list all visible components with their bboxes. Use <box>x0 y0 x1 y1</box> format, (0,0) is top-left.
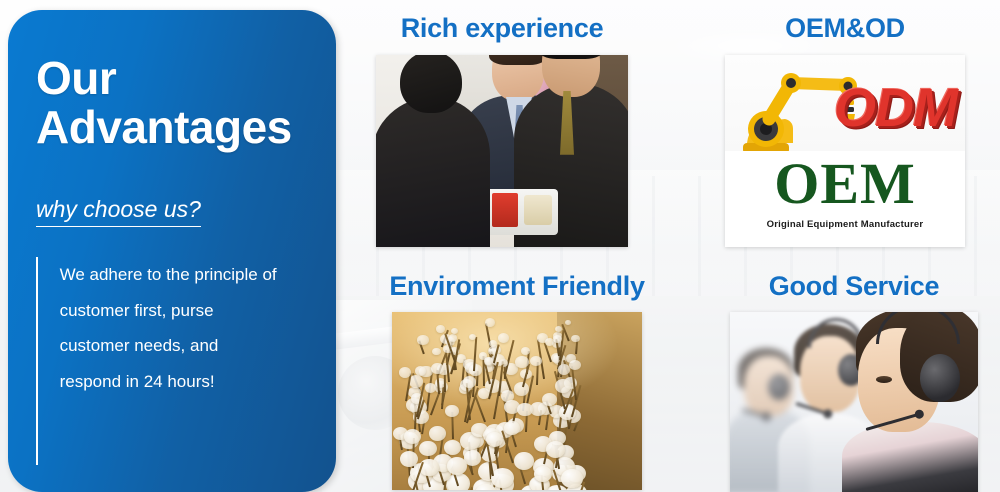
cotton-boll <box>485 318 495 327</box>
oem-section: OEM Original Equipment Manufacturer <box>725 151 965 247</box>
person-right-head <box>542 55 600 97</box>
cotton-boll <box>491 468 514 488</box>
cotton-boll <box>504 421 520 435</box>
cotton-boll <box>558 364 570 375</box>
cotton-boll <box>436 325 445 332</box>
cotton-boll <box>429 426 446 441</box>
cotton-boll <box>514 452 534 470</box>
cotton-boll <box>469 364 483 376</box>
panel-title-line2: Advantages <box>36 103 318 152</box>
cotton-boll <box>444 440 461 455</box>
person-right-tie <box>560 91 574 155</box>
heading-oem-odm: OEM&OD <box>700 14 990 44</box>
agent-front-headset-cup <box>920 354 960 402</box>
cotton-boll <box>400 451 418 467</box>
vertical-divider <box>36 257 38 465</box>
person-center-hair <box>489 55 547 65</box>
person-left-head <box>400 55 462 113</box>
cotton-boll <box>399 367 411 378</box>
meeting-person-left <box>376 97 490 247</box>
odm-logo-text: ODM <box>834 81 957 135</box>
heading-good-service: Good Service <box>718 272 990 302</box>
cotton-boll <box>534 466 553 482</box>
cotton-boll <box>484 357 493 365</box>
cotton-boll <box>445 405 458 417</box>
cotton-boll <box>517 403 532 416</box>
feature-environment-friendly: Enviroment Friendly <box>352 272 682 490</box>
photo-meeting <box>376 55 628 247</box>
call-agent-front <box>842 312 978 492</box>
oem-logo-text: OEM <box>725 155 965 213</box>
page-title: Our Advantages <box>36 54 318 152</box>
cotton-boll <box>419 441 437 457</box>
oem-caption: Original Equipment Manufacturer <box>725 219 965 230</box>
panel-body-group: We adhere to the principle of customer f… <box>36 257 318 465</box>
panel-body-text: We adhere to the principle of customer f… <box>60 257 278 465</box>
cotton-boll <box>463 376 476 388</box>
cotton-boll <box>542 393 557 406</box>
cotton-boll <box>515 356 529 368</box>
cotton-boll <box>417 335 428 345</box>
agent-front-eye <box>876 376 892 383</box>
cotton-boll <box>561 469 582 488</box>
heading-environment-friendly: Enviroment Friendly <box>352 272 682 302</box>
cotton-boll <box>555 379 571 393</box>
photo-oem-odm-logo: ODM OEM Original Equipment Manufacturer <box>725 55 965 247</box>
odm-section: ODM <box>725 55 965 155</box>
meeting-food-tray <box>486 189 558 235</box>
cotton-boll <box>546 441 565 458</box>
agent-front-headset-band <box>876 312 960 344</box>
panel-subtitle: why choose us? <box>36 196 201 227</box>
cotton-boll <box>521 347 530 355</box>
advantages-panel: Our Advantages why choose us? We adhere … <box>8 10 336 492</box>
feature-rich-experience: Rich experience <box>352 14 652 247</box>
panel-title-line1: Our <box>36 52 116 104</box>
photo-call-center <box>730 312 978 492</box>
cotton-boll <box>447 457 467 475</box>
agent-front-body <box>842 422 978 492</box>
photo-cotton-field <box>392 312 642 490</box>
heading-rich-experience: Rich experience <box>352 14 652 44</box>
feature-good-service: Good Service <box>718 272 990 492</box>
cotton-boll <box>530 356 542 366</box>
cotton-boll <box>449 334 457 341</box>
feature-oem-odm: OEM&OD ODM OEM <box>700 14 990 247</box>
